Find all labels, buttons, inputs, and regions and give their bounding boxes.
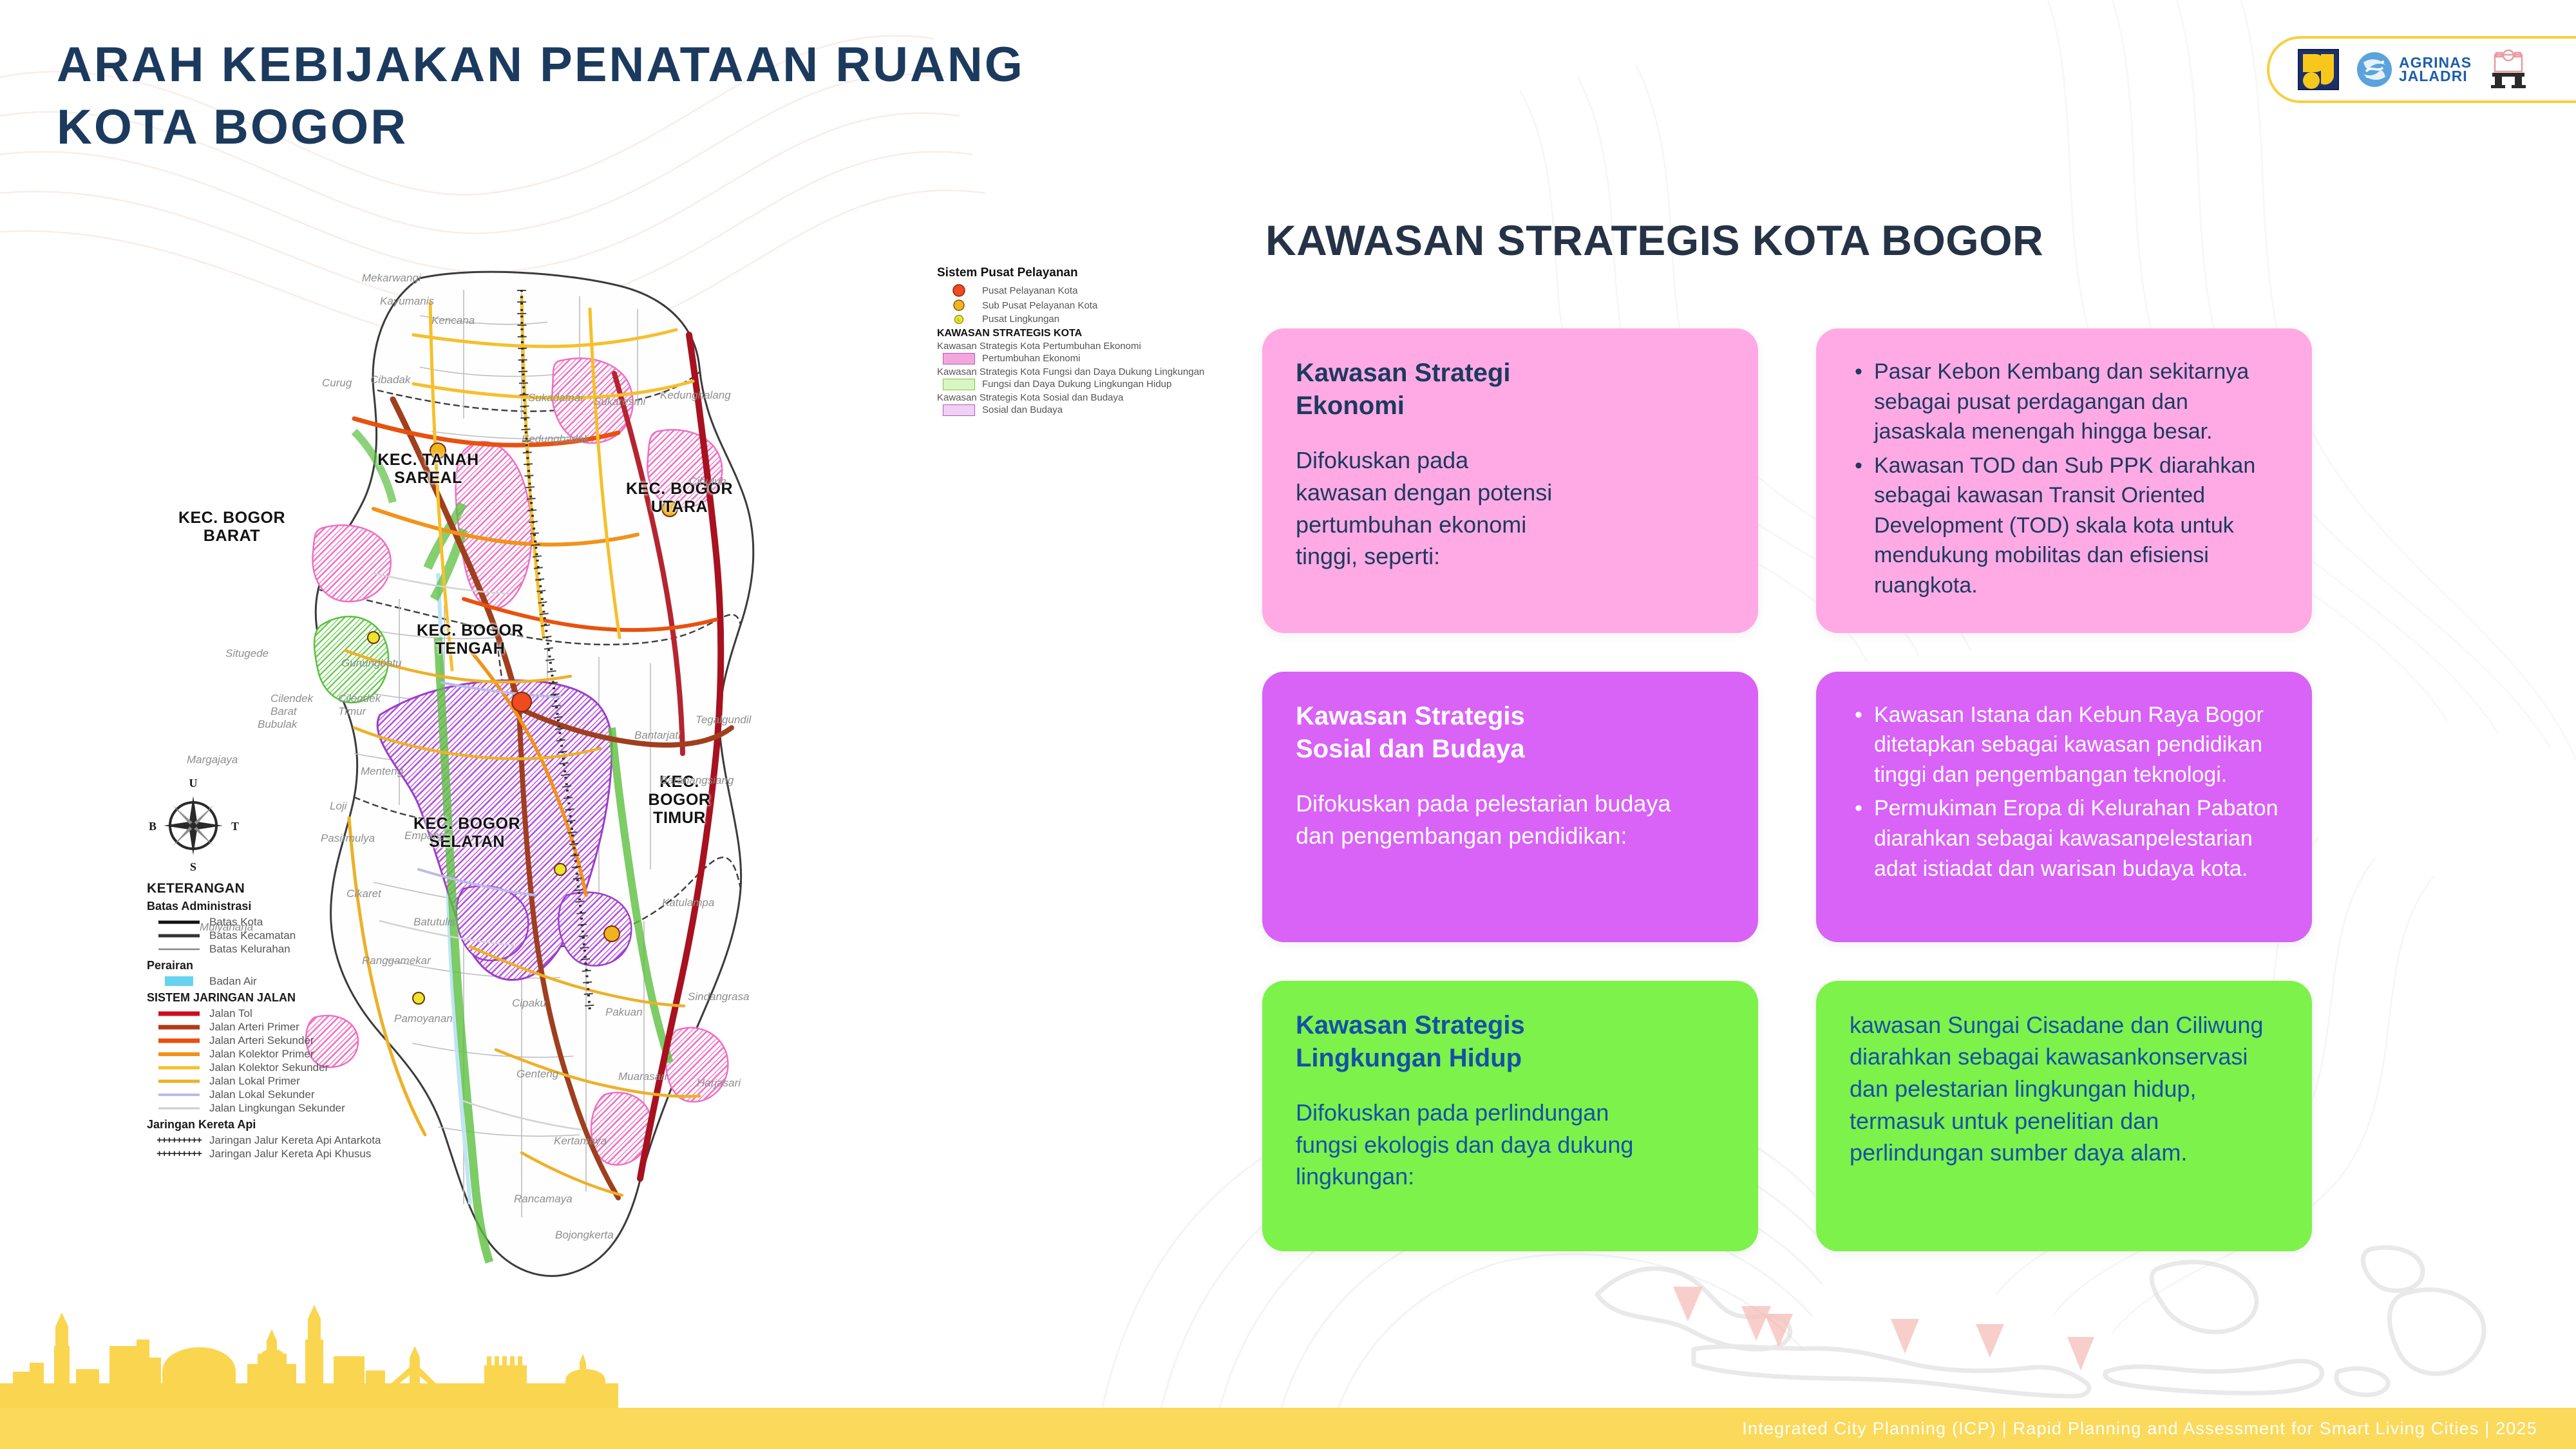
- kelurahan-label: Bantarjati: [634, 729, 681, 742]
- legend-item-label: Badan Air: [209, 975, 257, 988]
- legend-item-label: Batas Kelurahan: [209, 943, 290, 956]
- legend-item-label: Jalan Arteri Primer: [209, 1021, 299, 1034]
- kelurahan-label: CilendekBarat: [270, 692, 313, 718]
- legend-title: Sistem Pusat Pelayanan: [937, 266, 1240, 280]
- kelurahan-label: Harjasari: [697, 1077, 741, 1090]
- legend-section-heading: Batas Administrasi: [147, 900, 507, 913]
- legend-section-heading: Jaringan Kereta Api: [147, 1118, 507, 1132]
- kelurahan-label: Kedunghalang: [660, 389, 731, 402]
- kelurahan-label: Sindangrasa: [688, 990, 749, 1003]
- district-label: KEC. BOGORTENGAH: [396, 621, 544, 658]
- line-swatch-icon: [156, 1024, 202, 1030]
- kelurahan-label: Katulampa: [662, 896, 714, 909]
- line-swatch-icon: [156, 1065, 202, 1071]
- list-item: Permukiman Eropa di Kelurahan Pabaton di…: [1871, 793, 2278, 884]
- legend-item-label: Jaringan Jalur Kereta Api Khusus: [209, 1148, 371, 1160]
- legend-item-label: Jalan Arteri Sekunder: [209, 1034, 314, 1047]
- line-swatch-icon: [156, 1105, 202, 1112]
- page-title: ARAH KEBIJAKAN PENATAAN RUANG KOTA BOGOR: [57, 33, 1025, 159]
- kelurahan-label: Cipaku: [512, 997, 546, 1010]
- card-body: Difokuskan pada kawasan dengan potensi p…: [1296, 444, 1725, 573]
- card-row-ekonomi: Kawasan Strategi Ekonomi Difokuskan pada…: [1262, 328, 2421, 633]
- legend-item-label: Batas Kota: [209, 916, 263, 929]
- map-legend-pusat-pelayanan: Sistem Pusat Pelayanan Pusat Pelayanan K…: [937, 266, 1240, 417]
- line-swatch-icon: [156, 920, 202, 925]
- list-item: Kawasan TOD dan Sub PPK diarahkan sebaga…: [1871, 451, 2278, 601]
- kelurahan-label: Kencana: [431, 314, 475, 327]
- kelurahan-label: Rancamaya: [514, 1193, 573, 1206]
- legend-item-label: Fungsi dan Daya Dukung Lingkungan Hidup: [982, 379, 1171, 390]
- kelurahan-label: Cibuluh: [689, 475, 726, 488]
- legend-item: Sub Pusat Pelayanan Kota: [937, 298, 1240, 312]
- legend-section-heading: Perairan: [147, 959, 507, 972]
- list-item: Pasar Kebon Kembang dan sekitarnya sebag…: [1871, 357, 2278, 447]
- card-bullet-list: Pasar Kebon Kembang dan sekitarnya sebag…: [1850, 357, 2278, 601]
- legend-item: Jalan Arteri Primer: [147, 1020, 507, 1034]
- kelurahan-label: Kayumanis: [380, 295, 434, 308]
- kelurahan-label: Gunungbatu: [341, 657, 402, 670]
- legend-item-label: Jalan Lingkungan Sekunder: [209, 1102, 345, 1115]
- water-swatch-icon: [156, 976, 202, 986]
- line-swatch-icon: [156, 1010, 202, 1017]
- legend-caption: Kawasan Strategis Kota Fungsi dan Daya D…: [937, 366, 1240, 377]
- legend-item: Jalan Tol: [147, 1007, 507, 1020]
- card-lingkungan-summary[interactable]: Kawasan Strategis Lingkungan Hidup Difok…: [1262, 981, 1758, 1251]
- railway-swatch-icon: +++++++++: [156, 1135, 202, 1146]
- footer-bar: Integrated City Planning (ICP) | Rapid P…: [0, 1408, 2576, 1449]
- legend-item: +++++++++ Jaringan Jalur Kereta Api Anta…: [147, 1133, 507, 1147]
- line-swatch-icon: [156, 1051, 202, 1057]
- line-swatch-icon: [156, 1092, 202, 1098]
- legend-item: Jalan Kolektor Primer: [147, 1047, 507, 1061]
- line-swatch-icon: [156, 947, 202, 952]
- zone-swatch-icon: [942, 353, 976, 365]
- card-body: kawasan Sungai Cisadane dan Ciliwung dia…: [1850, 1009, 2278, 1169]
- legend-item: Jalan Kolektor Sekunder: [147, 1061, 507, 1074]
- legend-item: +++++++++ Jaringan Jalur Kereta Api Khus…: [147, 1147, 507, 1160]
- strategic-area-cards: Kawasan Strategi Ekonomi Difokuskan pada…: [1262, 328, 2421, 1290]
- legend-item: Fungsi dan Daya Dukung Lingkungan Hidup: [937, 377, 1240, 391]
- card-sosial-budaya-summary[interactable]: Kawasan Strategis Sosial dan Budaya Difo…: [1262, 672, 1758, 942]
- kelurahan-label: Curug: [322, 377, 352, 390]
- legend-item: Jalan Lokal Primer: [147, 1074, 507, 1088]
- legend-item: Jalan Lingkungan Sekunder: [147, 1101, 507, 1115]
- district-label: KEC. BOGORBARAT: [155, 509, 309, 545]
- legend-item-label: Sosial dan Budaya: [982, 404, 1063, 415]
- legend-item-label: Pertumbuhan Ekonomi: [982, 353, 1081, 364]
- card-title: Kawasan Strategis Lingkungan Hidup: [1296, 1009, 1725, 1075]
- kelurahan-label: Empang: [404, 829, 445, 842]
- legend-caption: Kawasan Strategis Kota Pertumbuhan Ekono…: [937, 341, 1240, 352]
- legend-item-label: Jaringan Jalur Kereta Api Antarkota: [209, 1134, 381, 1147]
- kelurahan-label: Margajaya: [187, 753, 238, 766]
- section-heading: KAWASAN STRATEGIS KOTA BOGOR: [1265, 216, 2043, 265]
- card-lingkungan-detail[interactable]: kawasan Sungai Cisadane dan Ciliwung dia…: [1816, 981, 2312, 1251]
- compass-rose-icon: U T S B: [138, 773, 248, 876]
- kelurahan-label: Bojongkerta: [555, 1229, 614, 1242]
- compass-south: S: [190, 860, 196, 873]
- kelurahan-label: Situgede: [225, 647, 269, 660]
- legend-item: Batas Kecamatan: [147, 929, 507, 942]
- legend-item: Sosial dan Budaya: [937, 403, 1240, 417]
- legend-item-label: Jalan Lokal Primer: [209, 1075, 300, 1088]
- card-ekonomi-summary[interactable]: Kawasan Strategi Ekonomi Difokuskan pada…: [1262, 328, 1758, 633]
- legend-item: Pusat Pelayanan Kota: [937, 283, 1240, 298]
- district-label: KEC. TANAHSAREAL: [354, 451, 502, 487]
- legend-item: Batas Kelurahan: [147, 942, 507, 956]
- zone-swatch-icon: [942, 404, 976, 416]
- line-swatch-icon: [156, 933, 202, 938]
- card-title: Kawasan Strategis Sosial dan Budaya: [1296, 700, 1725, 766]
- line-swatch-icon: [156, 1078, 202, 1084]
- legend-item: Pertumbuhan Ekonomi: [937, 352, 1240, 365]
- kelurahan-label: Kedungbadak: [522, 433, 589, 446]
- legend-item-label: Pusat Pelayanan Kota: [982, 285, 1077, 296]
- list-item: Kawasan Istana dan Kebun Raya Bogor dite…: [1871, 700, 2278, 790]
- card-sosial-budaya-detail[interactable]: Kawasan Istana dan Kebun Raya Bogor dite…: [1816, 672, 2312, 942]
- agrinas-globe-icon: [2356, 51, 2393, 88]
- pusat-pelayanan-kota-dot-icon: [942, 283, 976, 298]
- legend-item: Batas Kota: [147, 915, 507, 929]
- pu-logo-icon: [2298, 49, 2339, 90]
- legend-item-label: Jalan Kolektor Primer: [209, 1048, 314, 1061]
- legend-item-label: Jalan Lokal Sekunder: [209, 1088, 315, 1101]
- kelurahan-label: Cibadak: [370, 374, 410, 386]
- kelurahan-label: Loji: [330, 800, 346, 813]
- card-body: Difokuskan pada pelestarian budaya dan p…: [1296, 788, 1725, 851]
- district-label: KEC. BOGORUTARA: [605, 480, 753, 516]
- map-legend-keterangan: KETERANGAN Batas Administrasi Batas Kota…: [147, 881, 507, 1160]
- sub-pusat-pelayanan-dot-icon: [942, 298, 976, 312]
- pusat-lingkungan-dot-icon: L: [942, 314, 976, 325]
- legend-item-label: Jalan Tol: [209, 1007, 252, 1020]
- legend-title: KETERANGAN: [147, 881, 507, 896]
- card-row-lingkungan-hidup: Kawasan Strategis Lingkungan Hidup Difok…: [1262, 981, 2421, 1251]
- kelurahan-label: Sukaresmi: [594, 395, 645, 408]
- card-title: Kawasan Strategi Ekonomi: [1296, 357, 1725, 422]
- kelurahan-label: Sukadamai: [528, 392, 583, 404]
- railway-swatch-icon: +++++++++: [156, 1148, 202, 1159]
- legend-item: L Pusat Lingkungan: [937, 312, 1240, 326]
- legend-item-label: Pusat Lingkungan: [982, 314, 1059, 325]
- compass-east: T: [231, 820, 239, 833]
- legend-section-heading: SISTEM JARINGAN JALAN: [147, 991, 507, 1005]
- legend-item: Jalan Arteri Sekunder: [147, 1034, 507, 1047]
- logo-bar: AGRINAS JALADRI: [2267, 36, 2576, 103]
- line-swatch-icon: [156, 1037, 202, 1044]
- kelurahan-label: Tegalgundil: [696, 714, 751, 726]
- svg-text:L: L: [958, 318, 960, 323]
- architecture-logo-icon: [2488, 48, 2528, 91]
- legend-item: Jalan Lokal Sekunder: [147, 1088, 507, 1101]
- card-bullet-list: Kawasan Istana dan Kebun Raya Bogor dite…: [1850, 700, 2278, 884]
- kelurahan-label: Mekarwangi: [362, 272, 421, 285]
- kelurahan-label: Pasirmulya: [321, 832, 375, 845]
- kelurahan-label: Pakuan: [605, 1006, 643, 1019]
- agrinas-jaladri-logo: AGRINAS JALADRI: [2356, 51, 2472, 88]
- card-ekonomi-detail[interactable]: Pasar Kebon Kembang dan sekitarnya sebag…: [1816, 328, 2312, 633]
- legend-item-label: Sub Pusat Pelayanan Kota: [982, 300, 1097, 311]
- card-body: Difokuskan pada perlindungan fungsi ekol…: [1296, 1097, 1725, 1193]
- legend-item-label: Batas Kecamatan: [209, 929, 296, 942]
- kelurahan-label: CilendekTimur: [338, 692, 381, 718]
- zone-swatch-icon: [942, 379, 976, 390]
- legend-caption: Kawasan Strategis Kota Sosial dan Budaya: [937, 392, 1240, 403]
- city-skyline-decoration: [0, 1287, 618, 1416]
- footer-text: Integrated City Planning (ICP) | Rapid P…: [1742, 1408, 2537, 1449]
- kelurahan-label: Muarasari: [618, 1070, 667, 1083]
- kelurahan-label: Kertamaya: [554, 1135, 607, 1148]
- legend-item: Badan Air: [147, 974, 507, 988]
- kelurahan-label: Baranangsiang: [660, 774, 734, 787]
- compass-north: U: [189, 777, 198, 790]
- compass-west: B: [149, 820, 156, 833]
- legend-item-label: Jalan Kolektor Sekunder: [209, 1061, 328, 1074]
- kelurahan-label: Menteng: [361, 765, 403, 778]
- kelurahan-label: Bubulak: [258, 718, 297, 731]
- jaladri-label: JALADRI: [2399, 70, 2472, 83]
- card-row-sosial-budaya: Kawasan Strategis Sosial dan Budaya Difo…: [1262, 672, 2421, 942]
- kelurahan-label: Genteng: [516, 1068, 558, 1081]
- legend-kawasan-title: KAWASAN STRATEGIS KOTA: [937, 328, 1240, 339]
